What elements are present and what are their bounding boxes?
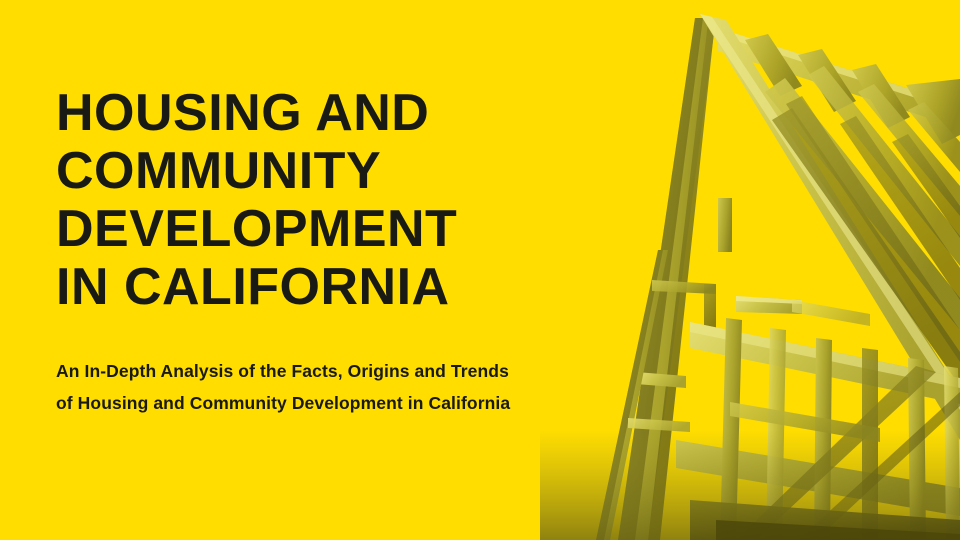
page-subtitle: An In-Depth Analysis of the Facts, Origi…	[56, 355, 676, 419]
title-line-1: HOUSING AND	[56, 84, 656, 142]
title-line-2: COMMUNITY	[56, 142, 656, 200]
subtitle-line-2: of Housing and Community Development in …	[56, 387, 676, 419]
subtitle-line-1: An In-Depth Analysis of the Facts, Origi…	[56, 355, 676, 387]
title-slide: HOUSING AND COMMUNITY DEVELOPMENT IN CAL…	[0, 0, 960, 540]
text-block: HOUSING AND COMMUNITY DEVELOPMENT IN CAL…	[56, 84, 656, 316]
title-line-4: IN CALIFORNIA	[56, 258, 656, 316]
page-title: HOUSING AND COMMUNITY DEVELOPMENT IN CAL…	[56, 84, 656, 316]
title-line-3: DEVELOPMENT	[56, 200, 656, 258]
